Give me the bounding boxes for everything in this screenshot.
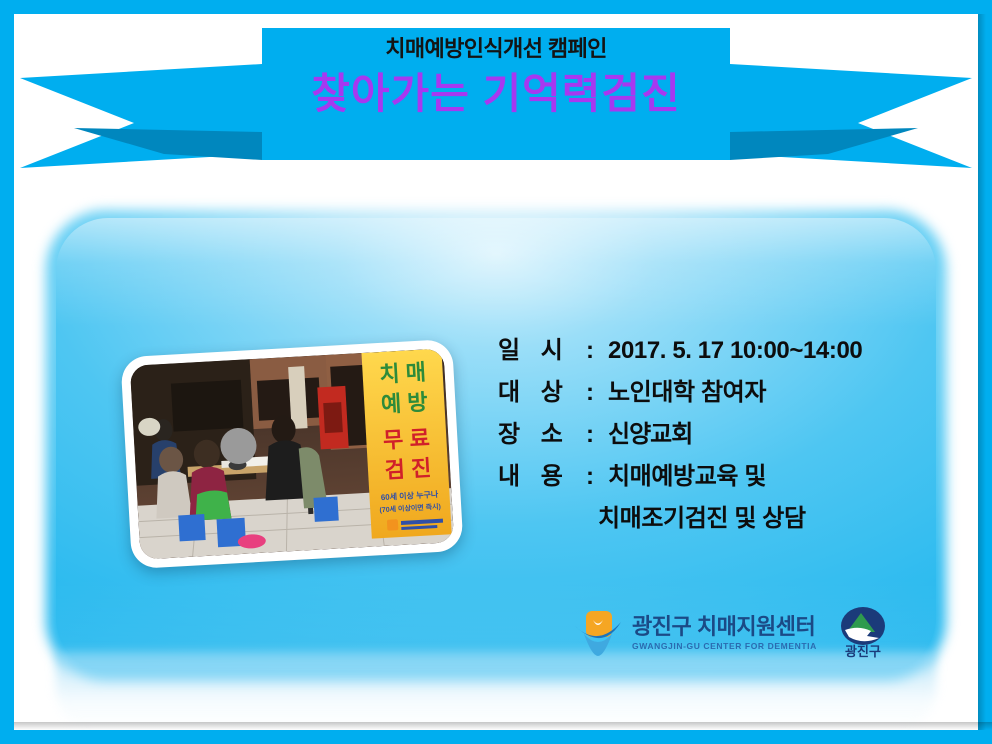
detail-colon-target: : (586, 379, 608, 407)
dementia-center-logo-icon (574, 610, 622, 656)
detail-row-target: 대 상 : 노인대학 참여자 (498, 372, 938, 414)
logo-name-en: GWANGJIN-GU CENTER FOR DEMENTIA (632, 642, 817, 651)
dementia-center-logo-text: 광진구 치매지원센터 GWANGJIN-GU CENTER FOR DEMENT… (632, 616, 817, 651)
detail-value-content: 치매예방교육 및 (608, 456, 766, 491)
detail-row-place: 장 소 : 신양교회 (498, 414, 938, 456)
svg-text:예 방: 예 방 (380, 389, 428, 417)
ribbon-center (262, 28, 730, 160)
poster-root: 치매예방인식개선 캠페인 찾아가는 기억력검진 (0, 0, 992, 744)
svg-text:검 진: 검 진 (384, 455, 432, 483)
event-photo-frame: 치 매 예 방 무 료 검 진 60세 이상 누구나 (70세 이상이면 즉시) (120, 339, 463, 569)
svg-text:치 매: 치 매 (379, 359, 427, 387)
event-photo: 치 매 예 방 무 료 검 진 60세 이상 누구나 (70세 이상이면 즉시) (130, 348, 454, 559)
detail-label-date: 일 시 (498, 330, 586, 365)
detail-value-content-continued: 치매조기검진 및 상담 (598, 498, 806, 533)
detail-label-place: 장 소 (498, 414, 586, 449)
detail-row-content: 내 용 : 치매예방교육 및 (498, 456, 938, 498)
detail-value-place: 신양교회 (608, 414, 692, 449)
footer-logos: 광진구 치매지원센터 GWANGJIN-GU CENTER FOR DEMENT… (574, 606, 891, 660)
detail-colon-place: : (586, 421, 608, 449)
ribbon-banner (14, 28, 978, 188)
svg-text:무 료: 무 료 (382, 425, 430, 453)
logo-name-ko: 광진구 치매지원센터 (632, 616, 817, 638)
content-panel-reflection (56, 652, 936, 730)
event-details: 일 시 : 2017. 5. 17 10:00~14:00 대 상 : 노인대학… (498, 330, 938, 540)
detail-value-target: 노인대학 참여자 (608, 372, 766, 407)
detail-row-date: 일 시 : 2017. 5. 17 10:00~14:00 (498, 330, 938, 372)
detail-value-date: 2017. 5. 17 10:00~14:00 (608, 337, 862, 365)
detail-colon-date: : (586, 337, 608, 365)
detail-label-content: 내 용 (498, 456, 586, 491)
gwangjin-gu-seal-icon: 광진구 (835, 606, 891, 660)
detail-label-target: 대 상 (498, 372, 586, 407)
seal-label: 광진구 (845, 644, 881, 659)
detail-colon-content: : (586, 463, 608, 491)
poster-border-shadow-right (978, 14, 986, 730)
detail-row-content-continued: 치매조기검진 및 상담 (498, 498, 938, 540)
